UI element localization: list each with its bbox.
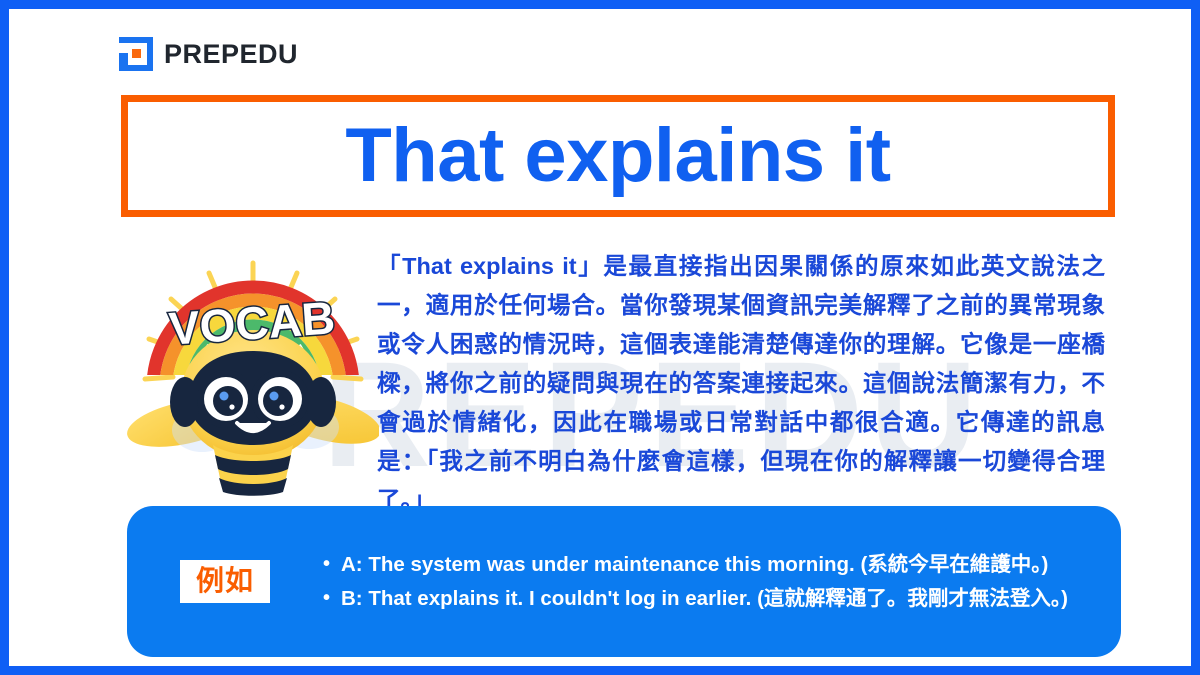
list-item: • B: That explains it. I couldn't log in… xyxy=(323,583,1095,614)
prepedu-bracket-icon xyxy=(119,37,153,71)
slide-content: PREPEDU PREPEDU That explains it xyxy=(9,9,1191,666)
vocab-bee-mascot: VOCAB xyxy=(127,247,379,497)
examples-panel: 例如 • A: The system was under maintenance… xyxy=(127,506,1121,657)
example-sentence: A: The system was under maintenance this… xyxy=(341,549,1095,580)
example-sentence: B: That explains it. I couldn't log in e… xyxy=(341,583,1095,614)
page-title: That explains it xyxy=(345,118,890,194)
examples-list: • A: The system was under maintenance th… xyxy=(323,546,1121,617)
list-item: • A: The system was under maintenance th… xyxy=(323,549,1095,580)
examples-badge: 例如 xyxy=(180,560,270,603)
bullet-icon: • xyxy=(323,583,341,614)
examples-label-wrap: 例如 xyxy=(127,560,323,603)
brand-logo-text: PREPEDU xyxy=(164,41,298,68)
slide-frame: PREPEDU PREPEDU That explains it xyxy=(0,0,1200,675)
bullet-icon: • xyxy=(323,549,341,580)
title-box: That explains it xyxy=(121,95,1115,217)
brand-logo[interactable]: PREPEDU xyxy=(119,37,298,71)
definition-paragraph: 「That explains it」是最直接指出因果關係的原來如此英文說法之一，… xyxy=(377,247,1105,520)
